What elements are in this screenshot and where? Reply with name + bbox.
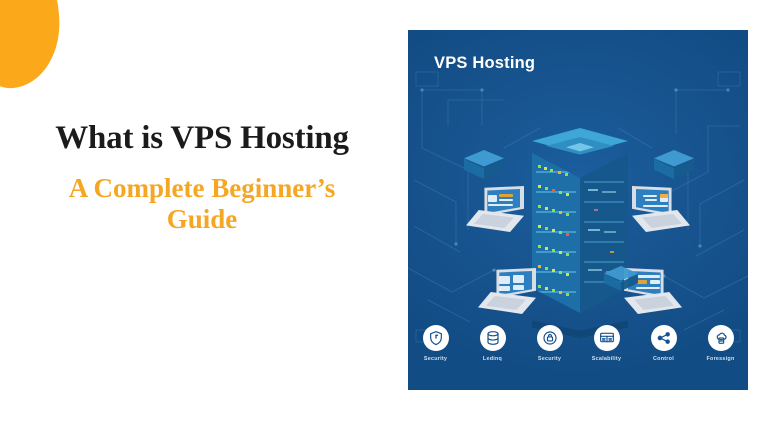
server-box-top-left <box>464 150 504 180</box>
monitor-icon[interactable] <box>594 325 620 351</box>
feature-label: Control <box>653 356 674 362</box>
laptop-left-bottom <box>478 268 540 314</box>
server-box-top-right <box>654 150 694 180</box>
feature-item-scalability[interactable]: Scalability <box>585 325 629 362</box>
cloud-doc-icon[interactable] <box>708 325 734 351</box>
feature-item-ledinq[interactable]: Ledinq <box>471 325 515 362</box>
orange-blob-shape <box>0 0 66 93</box>
feature-item-control[interactable]: Control <box>642 325 686 362</box>
illustration-panel: VPS Hosting <box>408 30 748 390</box>
feature-item-foressign[interactable]: Foressign <box>699 325 743 362</box>
page-title: What is VPS Hosting <box>0 120 404 157</box>
feature-label: Security <box>424 356 447 362</box>
feature-label: Foressign <box>706 356 734 362</box>
feature-label: Ledinq <box>483 356 502 362</box>
share-nodes-icon[interactable] <box>651 325 677 351</box>
laptop-right-top <box>628 186 690 232</box>
shield-icon[interactable] <box>423 325 449 351</box>
feature-icon-row: Security Ledinq <box>408 325 748 362</box>
feature-item-security-2[interactable]: Security <box>528 325 572 362</box>
database-icon[interactable] <box>480 325 506 351</box>
feature-item-security-1[interactable]: Security <box>414 325 458 362</box>
feature-label: Security <box>538 356 561 362</box>
laptop-left-top <box>466 186 528 232</box>
feature-label: Scalability <box>592 356 621 362</box>
server-box-bottom-right <box>604 266 638 292</box>
text-column: What is VPS Hosting A Complete Beginner’… <box>0 120 404 234</box>
poster-canvas: What is VPS Hosting A Complete Beginner’… <box>0 0 768 432</box>
clock-lock-icon[interactable] <box>537 325 563 351</box>
page-subtitle: A Complete Beginner’s Guide <box>0 173 404 235</box>
